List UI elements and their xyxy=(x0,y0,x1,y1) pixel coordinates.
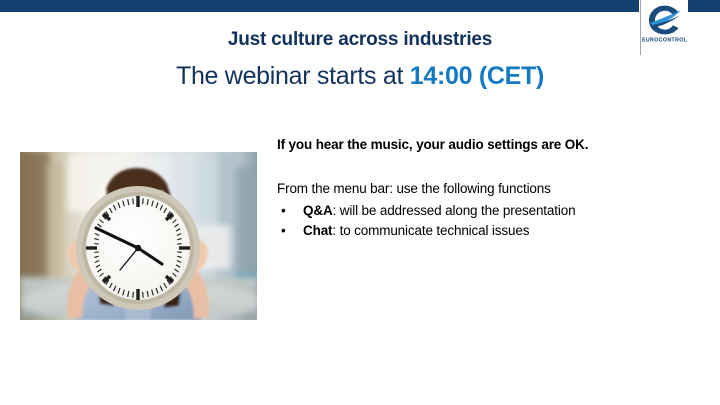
list-item-separator: : xyxy=(332,223,339,238)
slide-subtitle: The webinar starts at 14:00 (CET) xyxy=(0,62,720,91)
list-item-separator: : xyxy=(333,203,340,218)
top-accent-bar-right xyxy=(688,0,720,12)
menu-bar-instruction: From the menu bar: use the following fun… xyxy=(277,180,685,198)
clock-woman-photo xyxy=(20,152,257,320)
slide-title: Just culture across industries xyxy=(0,29,720,51)
subtitle-prefix: The webinar starts at xyxy=(176,62,410,90)
list-item: •Q&A: will be addressed along the presen… xyxy=(277,201,685,221)
list-item: •Chat: to communicate technical issues xyxy=(277,221,685,241)
list-item-label: Q&A xyxy=(303,203,333,218)
top-accent-bar-left xyxy=(0,0,639,12)
list-item-text: will be addressed along the presentation xyxy=(340,203,576,218)
functions-list: •Q&A: will be addressed along the presen… xyxy=(277,201,685,242)
list-item-text: to communicate technical issues xyxy=(340,223,530,238)
clock-woman-photo-illustration xyxy=(20,152,257,320)
subtitle-time-accent: 14:00 (CET) xyxy=(410,62,544,90)
bullet-marker-icon: • xyxy=(281,221,286,241)
audio-check-message: If you hear the music, your audio settin… xyxy=(277,136,685,154)
bullet-marker-icon: • xyxy=(281,201,286,221)
list-item-label: Chat xyxy=(303,223,332,238)
content-column: If you hear the music, your audio settin… xyxy=(277,136,685,242)
